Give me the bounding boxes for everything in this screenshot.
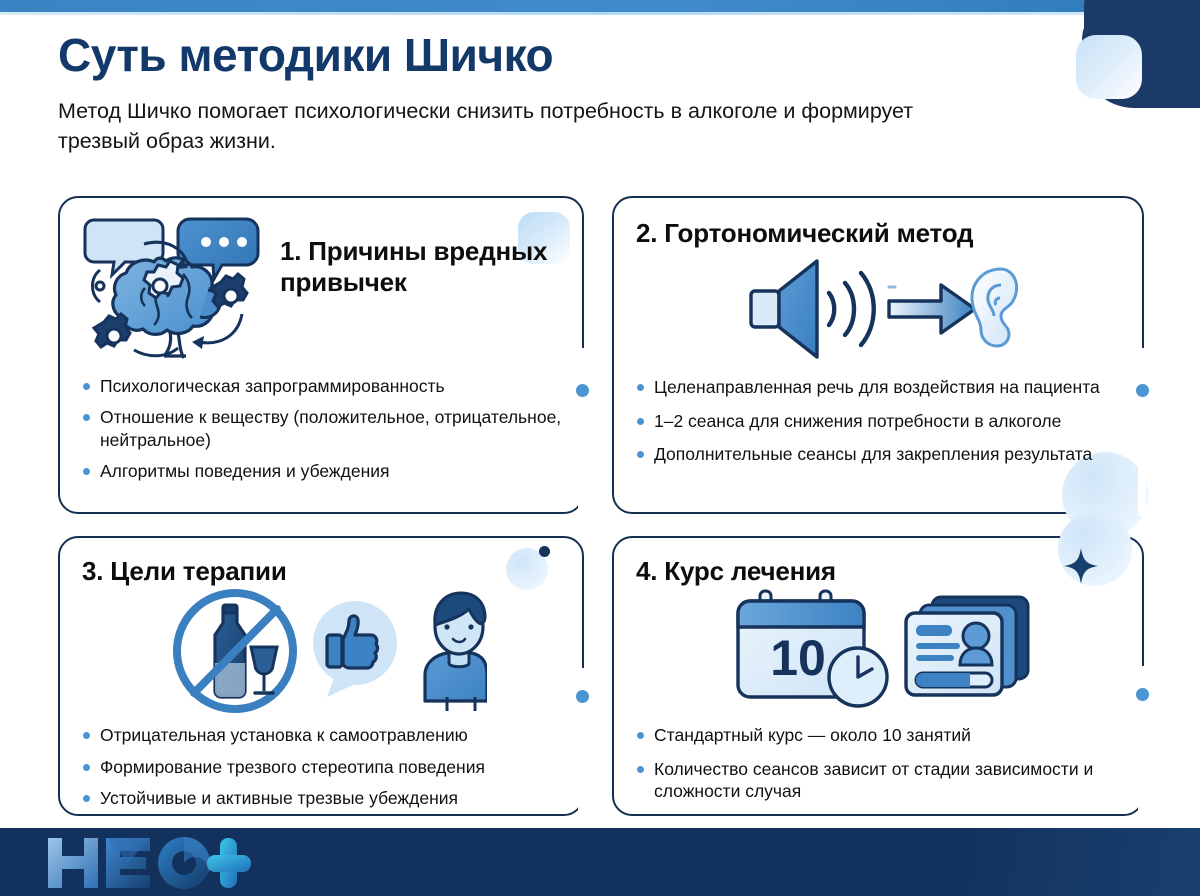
page-title: Суть методики Шичко <box>58 30 1058 82</box>
no-alcohol-thumbs-up-person-icon <box>157 589 487 720</box>
card-title: 1. Причины вредных привычек <box>280 214 562 298</box>
neo-plus-logo <box>44 834 294 892</box>
infographic-page: Суть методики Шичко Метод Шичко помогает… <box>0 0 1200 896</box>
list-item: Алгоритмы поведения и убеждения <box>82 460 562 482</box>
card-content: 4. Курс лечения <box>614 538 1142 814</box>
list-item: Устойчивые и активные трезвые убеждения <box>82 787 562 809</box>
card-therapy-goals: 3. Цели терапии <box>58 536 584 816</box>
list-item: Количество сеансов зависит от стадии зав… <box>636 758 1122 803</box>
card-causes-of-bad-habits: 1. Причины вредных привычек Психологичес… <box>58 196 584 514</box>
card-bullet-list: Отрицательная установка к самоотравлению… <box>82 724 562 809</box>
card-icon-row <box>636 253 1122 370</box>
card-treatment-course: 4. Курс лечения <box>612 536 1144 816</box>
edge-accent-dot <box>1136 384 1149 397</box>
list-item: Психологическая запрограммированность <box>82 375 562 397</box>
footer-gradient-decoration <box>940 828 1200 896</box>
card-title: 2. Гортономический метод <box>636 214 1122 249</box>
list-item: 1–2 сеанса для снижения потребности в ал… <box>636 410 1122 432</box>
card-grid: 1. Причины вредных привычек Психологичес… <box>58 196 1144 816</box>
list-item: Отношение к веществу (положительное, отр… <box>82 406 562 451</box>
footer-bar <box>0 828 1200 896</box>
sparkle-star-icon <box>1064 548 1098 589</box>
navy-accent-dot <box>539 546 550 557</box>
card-icon-row: 10 <box>636 589 1122 716</box>
card-title: 4. Курс лечения <box>636 554 1122 587</box>
card-title: 3. Цели терапии <box>82 554 562 587</box>
card-icon-row <box>82 589 562 720</box>
page-subtitle: Метод Шичко помогает психологически сниз… <box>58 96 918 157</box>
card-bullet-list: Психологическая запрограммированность От… <box>82 375 562 483</box>
calendar-day-number: 10 <box>770 630 826 686</box>
edge-accent-dot <box>1136 688 1149 701</box>
list-item: Дополнительные сеансы для закрепления ре… <box>636 443 1122 465</box>
corner-soft-square-decoration <box>1076 35 1142 99</box>
calendar-clock-cards-icon: 10 <box>724 589 1034 716</box>
list-item: Стандартный курс — около 10 занятий <box>636 724 1122 746</box>
card-header-row: 1. Причины вредных привычек <box>82 214 562 365</box>
card-gortonomic-method: 2. Гортономический метод <box>612 196 1144 514</box>
card-content: 1. Причины вредных привычек Психологичес… <box>60 198 582 512</box>
edge-accent-dot <box>576 690 589 703</box>
card-content: 3. Цели терапии <box>60 538 582 814</box>
card-bullet-list: Целенаправленная речь для воздействия на… <box>636 376 1122 465</box>
brain-gears-speech-bubbles-icon <box>82 214 272 365</box>
list-item: Целенаправленная речь для воздействия на… <box>636 376 1122 398</box>
list-item: Отрицательная установка к самоотравлению <box>82 724 562 746</box>
card-bullet-list: Стандартный курс — около 10 занятий Коли… <box>636 724 1122 802</box>
card-content: 2. Гортономический метод <box>614 198 1142 512</box>
top-accent-glow <box>0 12 1200 15</box>
top-accent-bar <box>0 0 1200 12</box>
header: Суть методики Шичко Метод Шичко помогает… <box>58 30 1058 157</box>
edge-accent-dot <box>576 384 589 397</box>
list-item: Формирование трезвого стереотипа поведен… <box>82 756 562 778</box>
speaker-arrow-ear-icon <box>729 253 1029 370</box>
